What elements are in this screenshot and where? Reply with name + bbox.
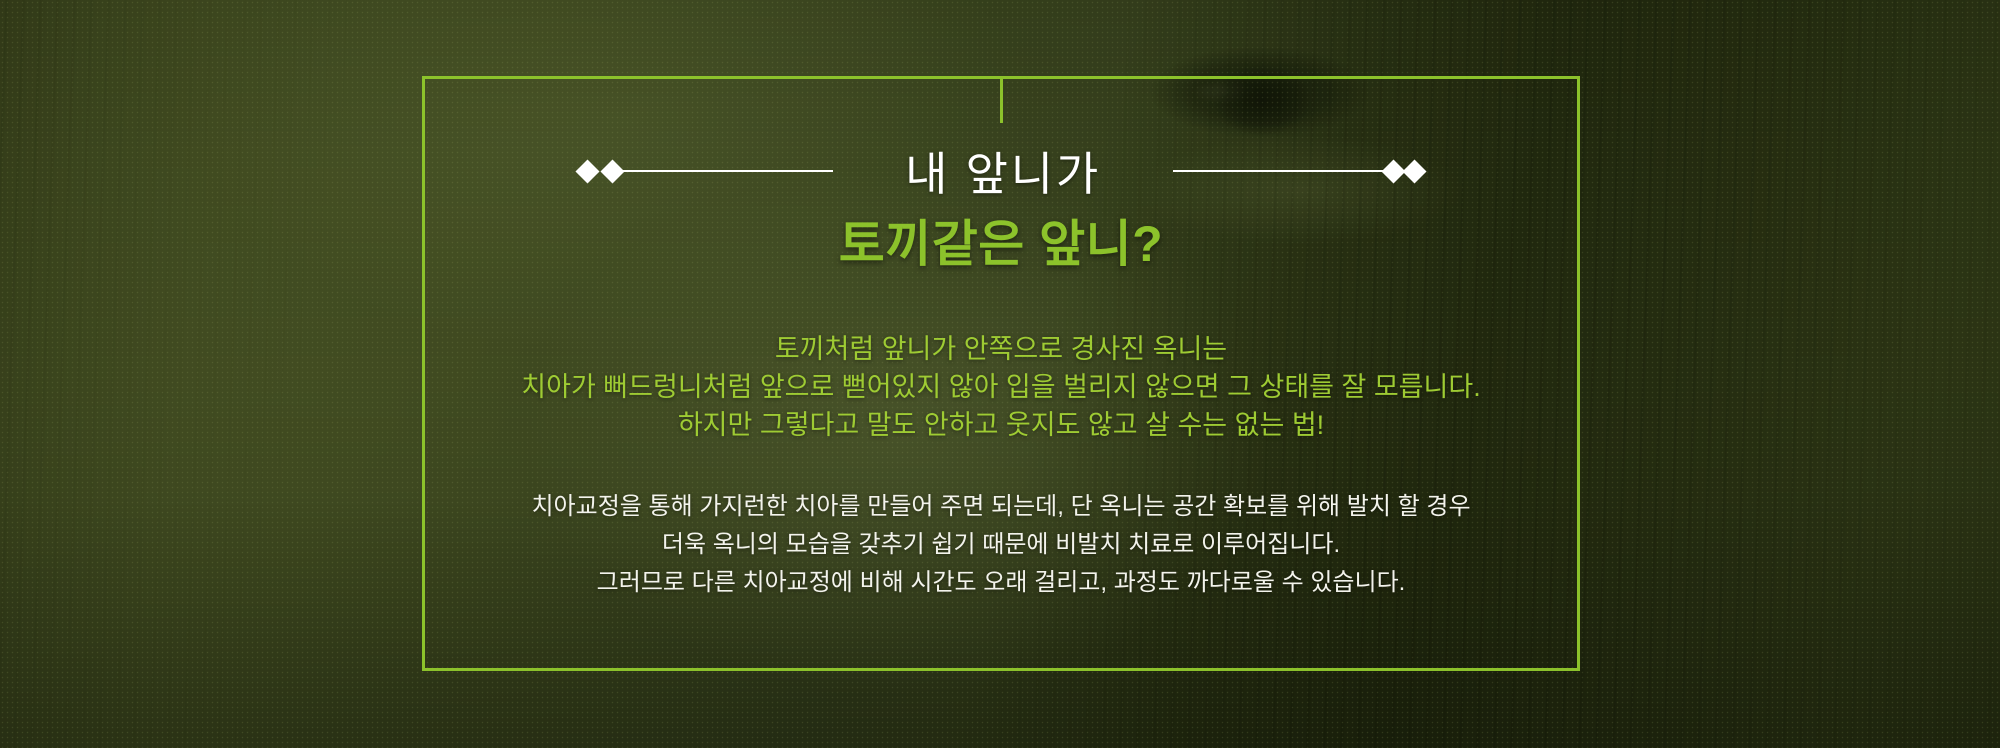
banner-content: 내 앞니가 토끼같은 앞니? 토끼처럼 앞니가 안쪽으로 경사진 옥니는 치아가…	[422, 76, 1580, 671]
diamond-icon	[576, 159, 600, 183]
paragraph-line: 하지만 그렇다고 말도 안하고 웃지도 않고 살 수는 없는 법!	[422, 406, 1580, 444]
left-diamond-pair	[579, 163, 621, 180]
diamond-icon	[1402, 159, 1426, 183]
promo-banner: 내 앞니가 토끼같은 앞니? 토끼처럼 앞니가 안쪽으로 경사진 옥니는 치아가…	[0, 0, 2000, 748]
description-paragraph-green: 토끼처럼 앞니가 안쪽으로 경사진 옥니는 치아가 뻐드렁니처럼 앞으로 뻗어있…	[422, 330, 1580, 444]
description-paragraph-white: 치아교정을 통해 가지런한 치아를 만들어 주면 되는데, 단 옥니는 공간 확…	[422, 488, 1580, 602]
paragraph-line: 더욱 옥니의 모습을 갖추기 쉽기 때문에 비발치 치료로 이루어집니다.	[422, 526, 1580, 564]
paragraph-line: 토끼처럼 앞니가 안쪽으로 경사진 옥니는	[422, 330, 1580, 368]
title-row: 내 앞니가	[422, 138, 1580, 204]
page-title-eyebrow: 내 앞니가	[905, 138, 1101, 204]
left-ornament	[579, 163, 905, 180]
diamond-icon	[601, 159, 625, 183]
page-title-headline: 토끼같은 앞니?	[422, 204, 1580, 276]
paragraph-line: 치아가 뻐드렁니처럼 앞으로 뻗어있지 않아 입을 벌리지 않으면 그 상태를 …	[422, 368, 1580, 406]
horizontal-rule-icon	[1173, 170, 1387, 172]
horizontal-rule-icon	[619, 170, 833, 172]
paragraph-line: 그러므로 다른 치아교정에 비해 시간도 오래 걸리고, 과정도 까다로울 수 …	[422, 564, 1580, 602]
paragraph-line: 치아교정을 통해 가지런한 치아를 만들어 주면 되는데, 단 옥니는 공간 확…	[422, 488, 1580, 526]
right-diamond-pair	[1385, 163, 1423, 180]
right-ornament	[1101, 163, 1423, 180]
